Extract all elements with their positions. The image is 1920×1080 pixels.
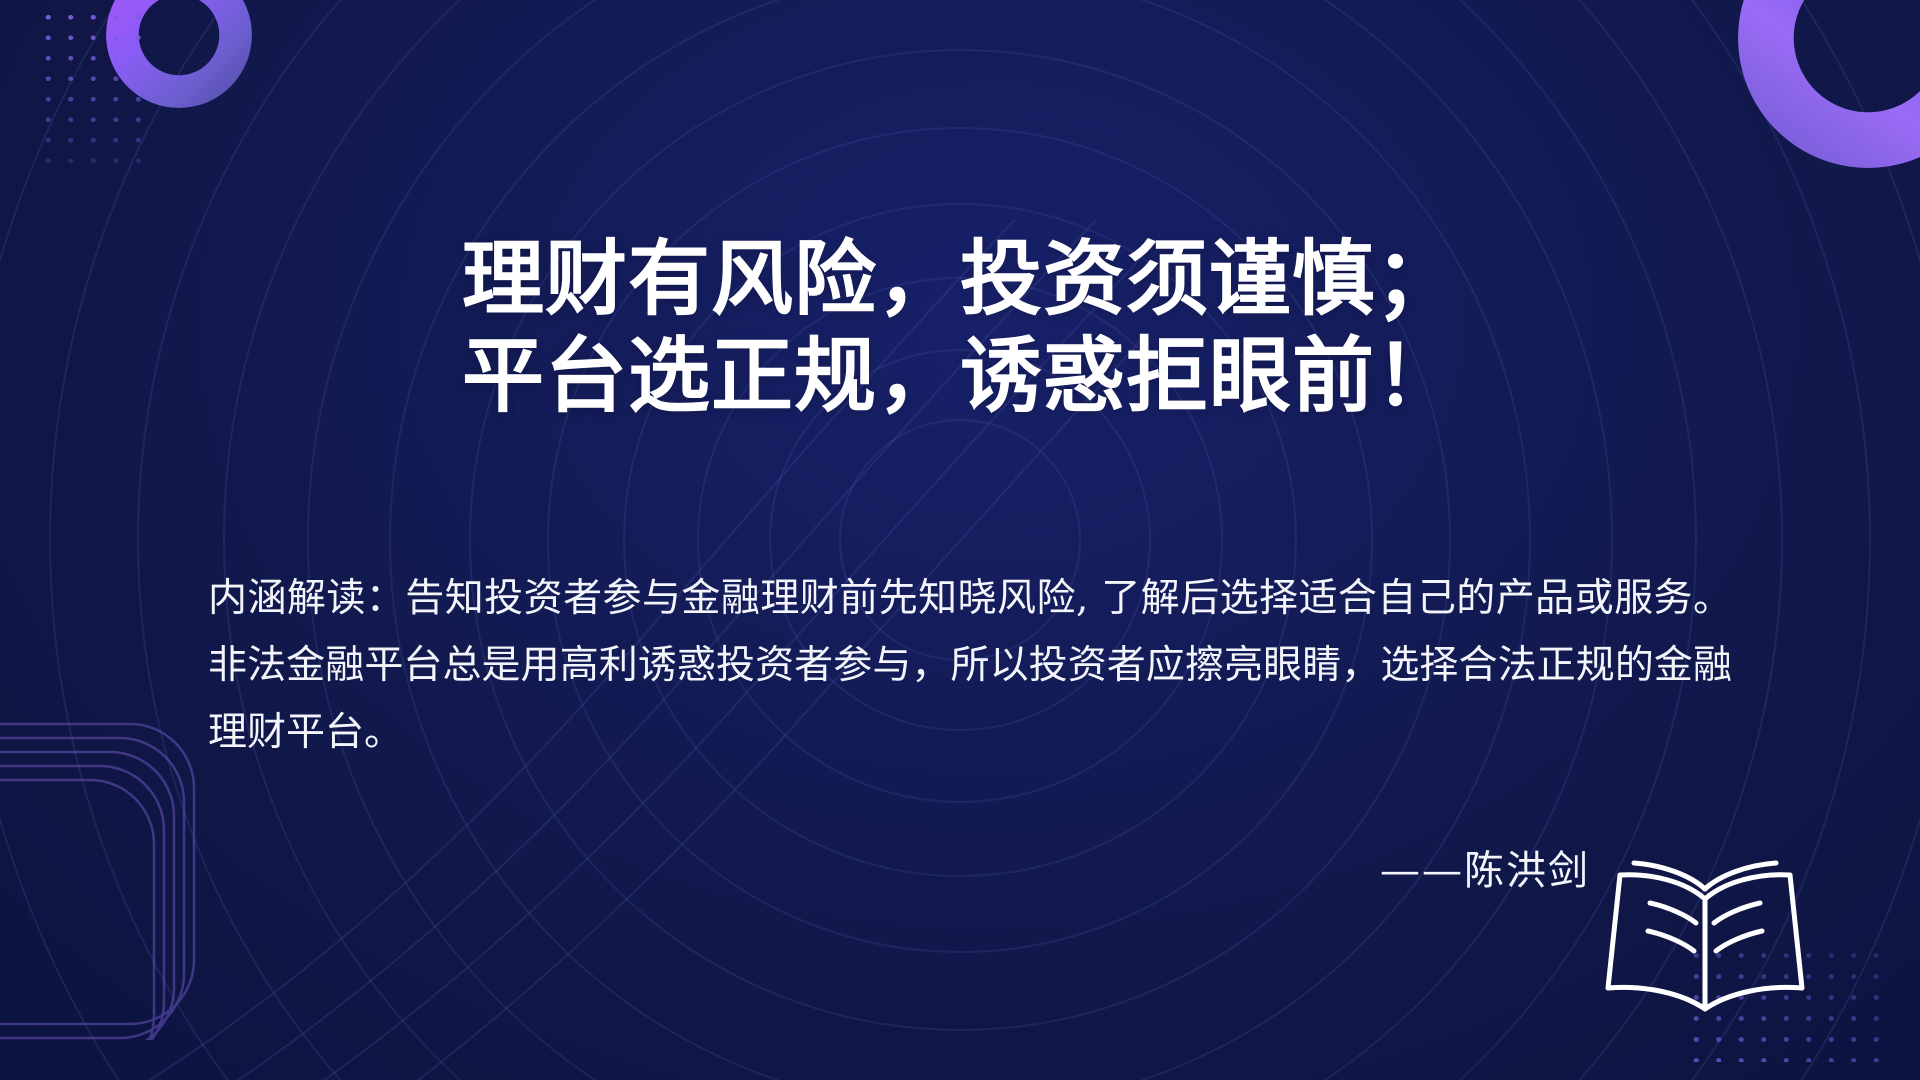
slide-content: 理财有风险，投资须谨慎； 平台选正规，诱惑拒眼前！ 内涵解读：告知投资者参与金融…: [0, 0, 1920, 1080]
attribution-text: ——陈洪剑: [1380, 838, 1590, 896]
body-paragraph: 内涵解读：告知投资者参与金融理财前先知晓风险, 了解后选择适合自己的产品或服务。…: [208, 565, 1732, 766]
page-title: 理财有风险，投资须谨慎； 平台选正规，诱惑拒眼前！: [0, 232, 1920, 426]
slide-canvas: 理财有风险，投资须谨慎； 平台选正规，诱惑拒眼前！ 内涵解读：告知投资者参与金融…: [0, 0, 1920, 1080]
